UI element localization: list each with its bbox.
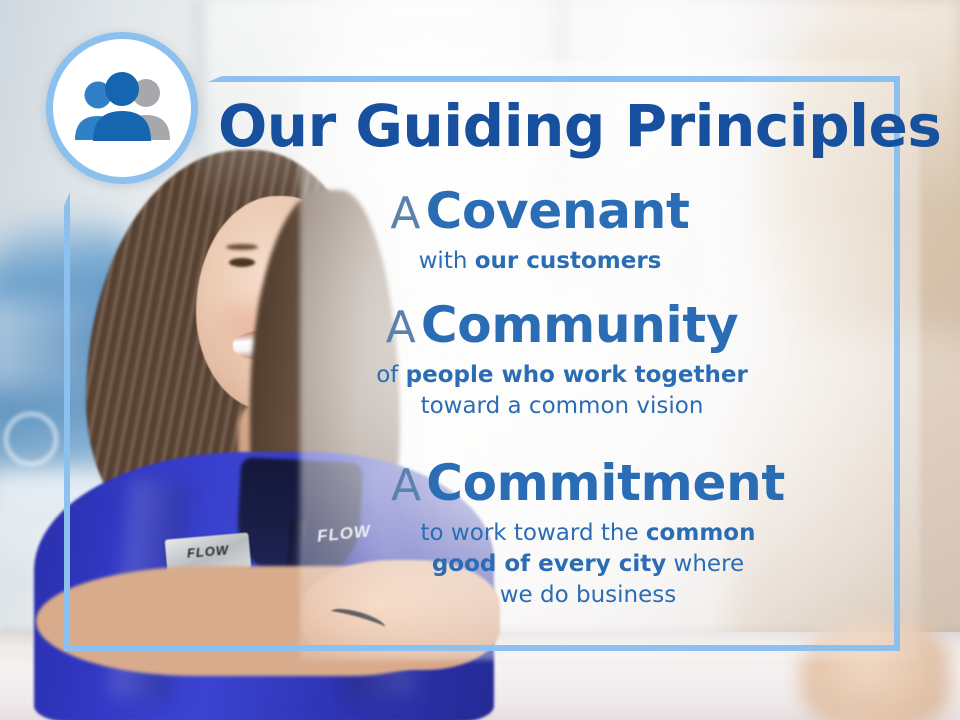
frame-border-right (894, 76, 900, 651)
vehicle-emblem (4, 412, 58, 466)
principle-article: A (386, 302, 416, 353)
customer-hands (800, 620, 950, 720)
principle-title: A Commitment (298, 458, 878, 508)
principle-title: A Covenant (250, 186, 830, 236)
people-group-icon (67, 70, 177, 146)
people-group-badge (46, 32, 198, 184)
guiding-principles-poster: FLOW FLOW Our Guiding Prin (0, 0, 960, 720)
frame-border-bottom (64, 645, 900, 651)
principle-covenant: A Covenant with our customers (250, 186, 830, 277)
principle-word: Commitment (426, 454, 785, 512)
principle-article: A (391, 460, 421, 511)
principle-word: Community (421, 296, 738, 354)
frame-border-left (64, 192, 70, 651)
principle-commitment: A Commitment to work toward the commongo… (298, 458, 878, 611)
frame-border-top (208, 76, 900, 82)
principle-title: A Community (272, 300, 852, 350)
principle-article: A (390, 188, 420, 239)
principle-subtext: to work toward the commongood of every c… (298, 518, 878, 611)
principle-subtext: with our customers (250, 246, 830, 277)
principle-word: Covenant (426, 182, 690, 240)
principle-community: A Community of people who work togethert… (272, 300, 852, 422)
principle-subtext: of people who work togethertoward a comm… (272, 360, 852, 422)
page-title: Our Guiding Principles (218, 96, 878, 156)
